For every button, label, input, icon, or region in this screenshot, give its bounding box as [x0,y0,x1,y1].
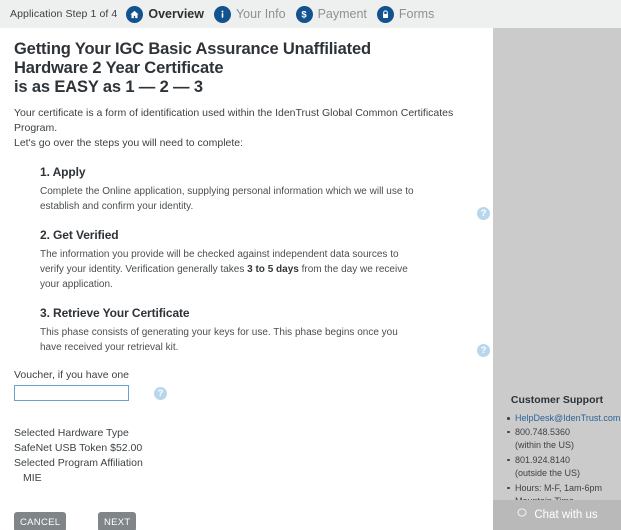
svg-text:$: $ [301,9,307,20]
selected-affiliation-value: MIE [14,471,479,486]
help-icon-retrieve[interactable]: ? [477,344,490,357]
support-item-phone-intl-note: (outside the US) [515,467,621,480]
intro-line-2: Let's go over the steps you will need to… [14,137,243,149]
main-content: Getting Your IGC Basic Assurance Unaffil… [0,28,493,530]
step-counter: Application Step 1 of 4 [10,8,117,20]
step-body-apply: Complete the Online application, supplyi… [40,184,420,214]
support-item-phone-us-note: (within the US) [515,439,621,452]
selections-summary: Selected Hardware Type SafeNet USB Token… [14,426,479,486]
step-heading-get-verified: 2. Get Verified [40,228,479,242]
step-item-forms[interactable]: Forms [377,6,434,23]
home-icon [126,6,143,23]
voucher-label: Voucher, if you have one [14,369,479,381]
voucher-row: ? [14,385,479,401]
customer-support-heading: Customer Support [493,394,621,406]
step-body-get-verified-bold: 3 to 5 days [247,264,299,275]
chat-bubble-icon [516,506,528,524]
customer-support-panel: Customer Support HelpDesk@IdenTrust.com … [493,394,621,510]
help-icon-voucher[interactable]: ? [154,387,167,400]
page-title-line-3: is as EASY as 1 — 2 — 3 [14,78,479,97]
step-item-your-info[interactable]: Your Info [214,6,286,23]
step-label-payment: Payment [318,7,367,21]
chat-with-us-label: Chat with us [534,509,597,521]
step-label-overview: Overview [148,7,204,21]
step-block-apply: 1. Apply Complete the Online application… [40,165,479,214]
support-item-phone-intl: 801.924.8140 [515,454,621,467]
intro-line-1: Your certificate is a form of identifica… [14,107,453,134]
support-item-phone-us: 800.748.5360 [515,426,621,439]
step-body-retrieve: This phase consists of generating your k… [40,325,420,355]
lock-icon [377,6,394,23]
help-icon-apply[interactable]: ? [477,207,490,220]
steps-list: 1. Apply Complete the Online application… [14,165,479,355]
next-button[interactable]: NEXT [98,512,136,530]
page-title: Getting Your IGC Basic Assurance Unaffil… [14,40,479,97]
chat-with-us-bar[interactable]: Chat with us [493,500,621,530]
selected-hardware-label: Selected Hardware Type [14,426,479,441]
intro-paragraph: Your certificate is a form of identifica… [14,106,479,151]
step-label-forms: Forms [399,7,434,21]
step-label-your-info: Your Info [236,7,286,21]
application-page: Application Step 1 of 4 Overview Your In… [0,0,621,530]
support-item-email[interactable]: HelpDesk@IdenTrust.com [515,412,621,425]
page-title-line-2: Hardware 2 Year Certificate [14,59,479,78]
support-email-link[interactable]: HelpDesk@IdenTrust.com [515,413,620,423]
step-heading-apply: 1. Apply [40,165,479,179]
form-actions: CANCEL NEXT [14,512,479,530]
dollar-icon: $ [296,6,313,23]
step-item-payment[interactable]: $ Payment [296,6,367,23]
customer-support-list: HelpDesk@IdenTrust.com 800.748.5360 (wit… [493,412,621,508]
step-body-get-verified: The information you provide will be chec… [40,247,420,292]
selected-hardware-value: SafeNet USB Token $52.00 [14,441,479,456]
right-sidebar: Customer Support HelpDesk@IdenTrust.com … [493,28,621,530]
voucher-section: Voucher, if you have one ? [14,369,479,401]
info-icon [214,6,231,23]
application-step-bar: Application Step 1 of 4 Overview Your In… [0,0,621,28]
voucher-input[interactable] [14,385,129,401]
support-item-hours: Hours: M-F, 1am-6pm [515,482,621,495]
step-block-retrieve: 3. Retrieve Your Certificate This phase … [40,306,479,355]
selected-affiliation-label: Selected Program Affiliation [14,456,479,471]
step-item-overview[interactable]: Overview [126,6,204,23]
step-block-get-verified: 2. Get Verified The information you prov… [40,228,479,292]
cancel-button[interactable]: CANCEL [14,512,66,530]
step-heading-retrieve: 3. Retrieve Your Certificate [40,306,479,320]
page-title-line-1: Getting Your IGC Basic Assurance Unaffil… [14,40,479,59]
